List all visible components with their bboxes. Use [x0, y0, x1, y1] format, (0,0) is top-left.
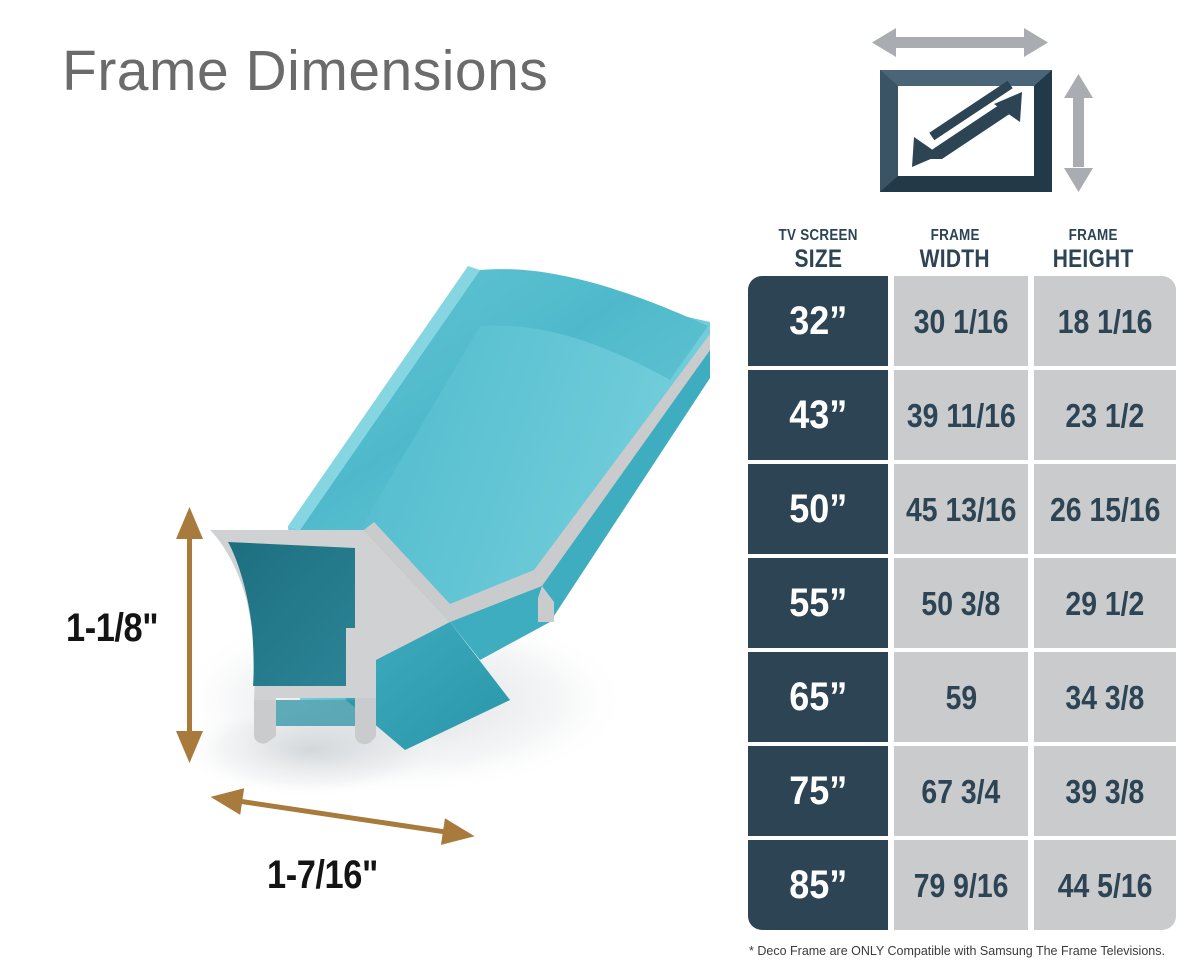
width-arrow-icon [872, 28, 1048, 57]
frame-profile-3d-illustration [150, 230, 710, 830]
vertical-dimension-arrow [168, 505, 212, 765]
vertical-dimension-label: 1-1/8" [66, 606, 158, 651]
table-row: 85” 79 9/16 44 5/16 [748, 840, 1164, 930]
cell-frame-width: 45 13/16 [894, 464, 1028, 554]
cell-tv-size: 75” [748, 746, 888, 836]
horizontal-dimension-arrow [205, 785, 480, 849]
column-header-line2: HEIGHT [1053, 247, 1134, 272]
column-header-line1: TV SCREEN [778, 228, 857, 244]
column-header-frame-width: FRAME WIDTH [888, 212, 1022, 276]
frame-dimensions-page: Frame Dimensions [0, 0, 1200, 977]
cell-tv-size: 65” [748, 652, 888, 742]
cell-frame-width: 30 1/16 [894, 276, 1028, 366]
cell-frame-width: 79 9/16 [894, 840, 1028, 930]
column-header-line2: WIDTH [920, 247, 990, 272]
height-arrow-icon [1064, 74, 1093, 192]
cell-frame-width: 39 11/16 [894, 370, 1028, 460]
cell-tv-size: 85” [748, 840, 888, 930]
table-header-row: TV SCREEN SIZE FRAME WIDTH FRAME HEIGHT [748, 212, 1164, 276]
table-row: 65” 59 34 3/8 [748, 652, 1164, 742]
tv-frame-measure-icon [862, 14, 1100, 202]
column-header-line1: FRAME [1068, 228, 1117, 244]
cell-frame-height: 29 1/2 [1034, 558, 1176, 648]
table-row: 32” 30 1/16 18 1/16 [748, 276, 1164, 366]
cell-tv-size: 43” [748, 370, 888, 460]
table-footnote: * Deco Frame are ONLY Compatible with Sa… [748, 944, 1166, 958]
cell-frame-width: 50 3/8 [894, 558, 1028, 648]
table-row: 55” 50 3/8 29 1/2 [748, 558, 1164, 648]
cell-tv-size: 32” [748, 276, 888, 366]
column-header-tv-screen-size: TV SCREEN SIZE [748, 212, 888, 276]
column-header-line1: FRAME [930, 228, 979, 244]
table-row: 50” 45 13/16 26 15/16 [748, 464, 1164, 554]
column-header-line2: SIZE [794, 247, 842, 272]
dimensions-table: TV SCREEN SIZE FRAME WIDTH FRAME HEIGHT … [748, 212, 1164, 930]
cell-frame-height: 44 5/16 [1034, 840, 1176, 930]
cell-frame-height: 26 15/16 [1034, 464, 1176, 554]
table-row: 75” 67 3/4 39 3/8 [748, 746, 1164, 836]
cell-tv-size: 50” [748, 464, 888, 554]
cell-frame-height: 34 3/8 [1034, 652, 1176, 742]
page-title: Frame Dimensions [62, 42, 548, 102]
cell-frame-height: 39 3/8 [1034, 746, 1176, 836]
cell-tv-size: 55” [748, 558, 888, 648]
table-row: 43” 39 11/16 23 1/2 [748, 370, 1164, 460]
cell-frame-height: 18 1/16 [1034, 276, 1176, 366]
table-body: 32” 30 1/16 18 1/16 43” 39 11/16 23 1/2 … [748, 276, 1164, 930]
horizontal-dimension-label: 1-7/16" [267, 853, 378, 898]
cell-frame-height: 23 1/2 [1034, 370, 1176, 460]
cell-frame-width: 67 3/4 [894, 746, 1028, 836]
column-header-frame-height: FRAME HEIGHT [1022, 212, 1164, 276]
cell-frame-width: 59 [894, 652, 1028, 742]
